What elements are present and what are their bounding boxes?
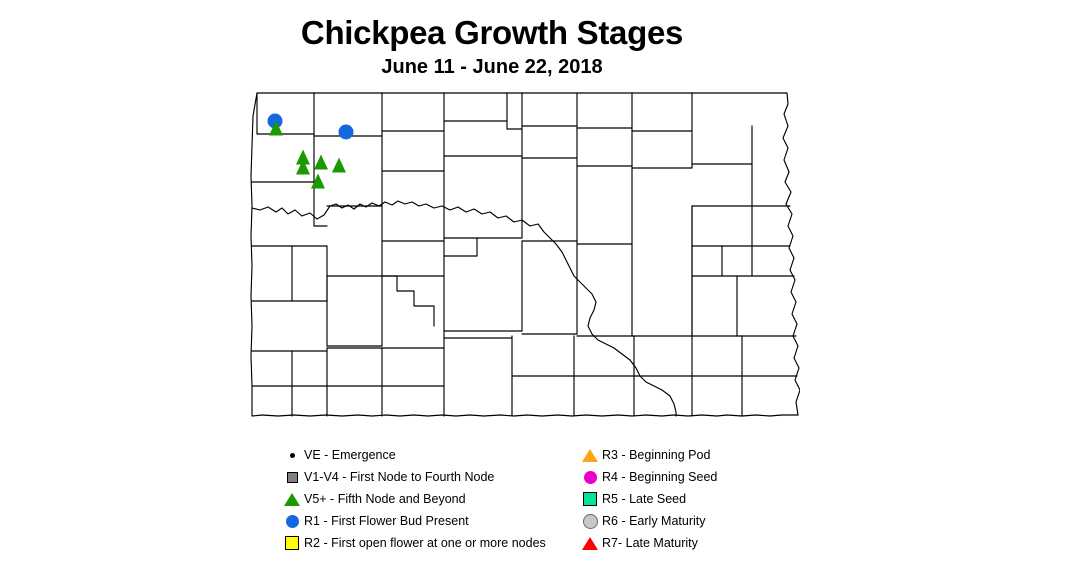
legend-label: R7- Late Maturity: [602, 537, 698, 550]
legend-label: R4 - Beginning Seed: [602, 471, 717, 484]
legend-label: R6 - Early Maturity: [602, 515, 706, 528]
map-marker-v5: [314, 155, 328, 170]
legend-symbol: [283, 453, 301, 458]
triangle-icon: [582, 449, 598, 462]
legend-symbol: [581, 492, 599, 506]
legend-symbol: [283, 472, 301, 483]
legend-symbol: [283, 515, 301, 528]
legend-item-r5: R5 - Late Seed: [581, 488, 717, 510]
triangle-icon: [284, 493, 300, 506]
legend-item-r2: R2 - First open flower at one or more no…: [283, 532, 546, 554]
legend-item-r4: R4 - Beginning Seed: [581, 466, 717, 488]
map-marker-v5: [269, 121, 283, 136]
map-marker-v5: [296, 160, 310, 175]
legend-item-v5-: V5+ - Fifth Node and Beyond: [283, 488, 546, 510]
square-icon: [583, 492, 597, 506]
legend-item-r1: R1 - First Flower Bud Present: [283, 510, 546, 532]
legend-label: R5 - Late Seed: [602, 493, 686, 506]
legend-symbol: [581, 514, 599, 529]
square-icon: [285, 536, 299, 550]
legend-label: V1-V4 - First Node to Fourth Node: [304, 471, 494, 484]
legend-symbol: [581, 471, 599, 484]
circle-icon: [583, 514, 598, 529]
legend-item-r6: R6 - Early Maturity: [581, 510, 717, 532]
legend-column-left: VE - EmergenceV1-V4 - First Node to Four…: [283, 444, 546, 554]
map-marker-r1: [339, 125, 354, 140]
legend-symbol: [283, 493, 301, 506]
legend-item-r7: R7- Late Maturity: [581, 532, 717, 554]
map-marker-v5: [332, 158, 346, 173]
circle-icon: [286, 515, 299, 528]
title-block: Chickpea Growth Stages June 11 - June 22…: [0, 16, 1066, 78]
map-container: [222, 86, 800, 424]
page-subtitle: June 11 - June 22, 2018: [0, 57, 1066, 78]
legend-label: V5+ - Fifth Node and Beyond: [304, 493, 466, 506]
page-title: Chickpea Growth Stages: [0, 16, 1066, 51]
legend-symbol: [581, 449, 599, 462]
legend-symbol: [581, 537, 599, 550]
legend-item-r3: R3 - Beginning Pod: [581, 444, 717, 466]
legend-item-v1-v4: V1-V4 - First Node to Fourth Node: [283, 466, 546, 488]
triangle-icon: [582, 537, 598, 550]
legend-column-right: R3 - Beginning PodR4 - Beginning SeedR5 …: [581, 444, 717, 554]
legend: VE - EmergenceV1-V4 - First Node to Four…: [0, 444, 1066, 554]
marker-layer: [222, 86, 800, 424]
chickpea-growth-stages-map-page: Chickpea Growth Stages June 11 - June 22…: [0, 0, 1066, 561]
dot-icon: [290, 453, 295, 458]
square-icon: [287, 472, 298, 483]
map-marker-v5: [311, 174, 325, 189]
legend-label: R3 - Beginning Pod: [602, 449, 710, 462]
circle-icon: [584, 471, 597, 484]
legend-label: R1 - First Flower Bud Present: [304, 515, 469, 528]
legend-label: VE - Emergence: [304, 449, 396, 462]
legend-symbol: [283, 536, 301, 550]
legend-item-ve: VE - Emergence: [283, 444, 546, 466]
legend-label: R2 - First open flower at one or more no…: [304, 537, 546, 550]
